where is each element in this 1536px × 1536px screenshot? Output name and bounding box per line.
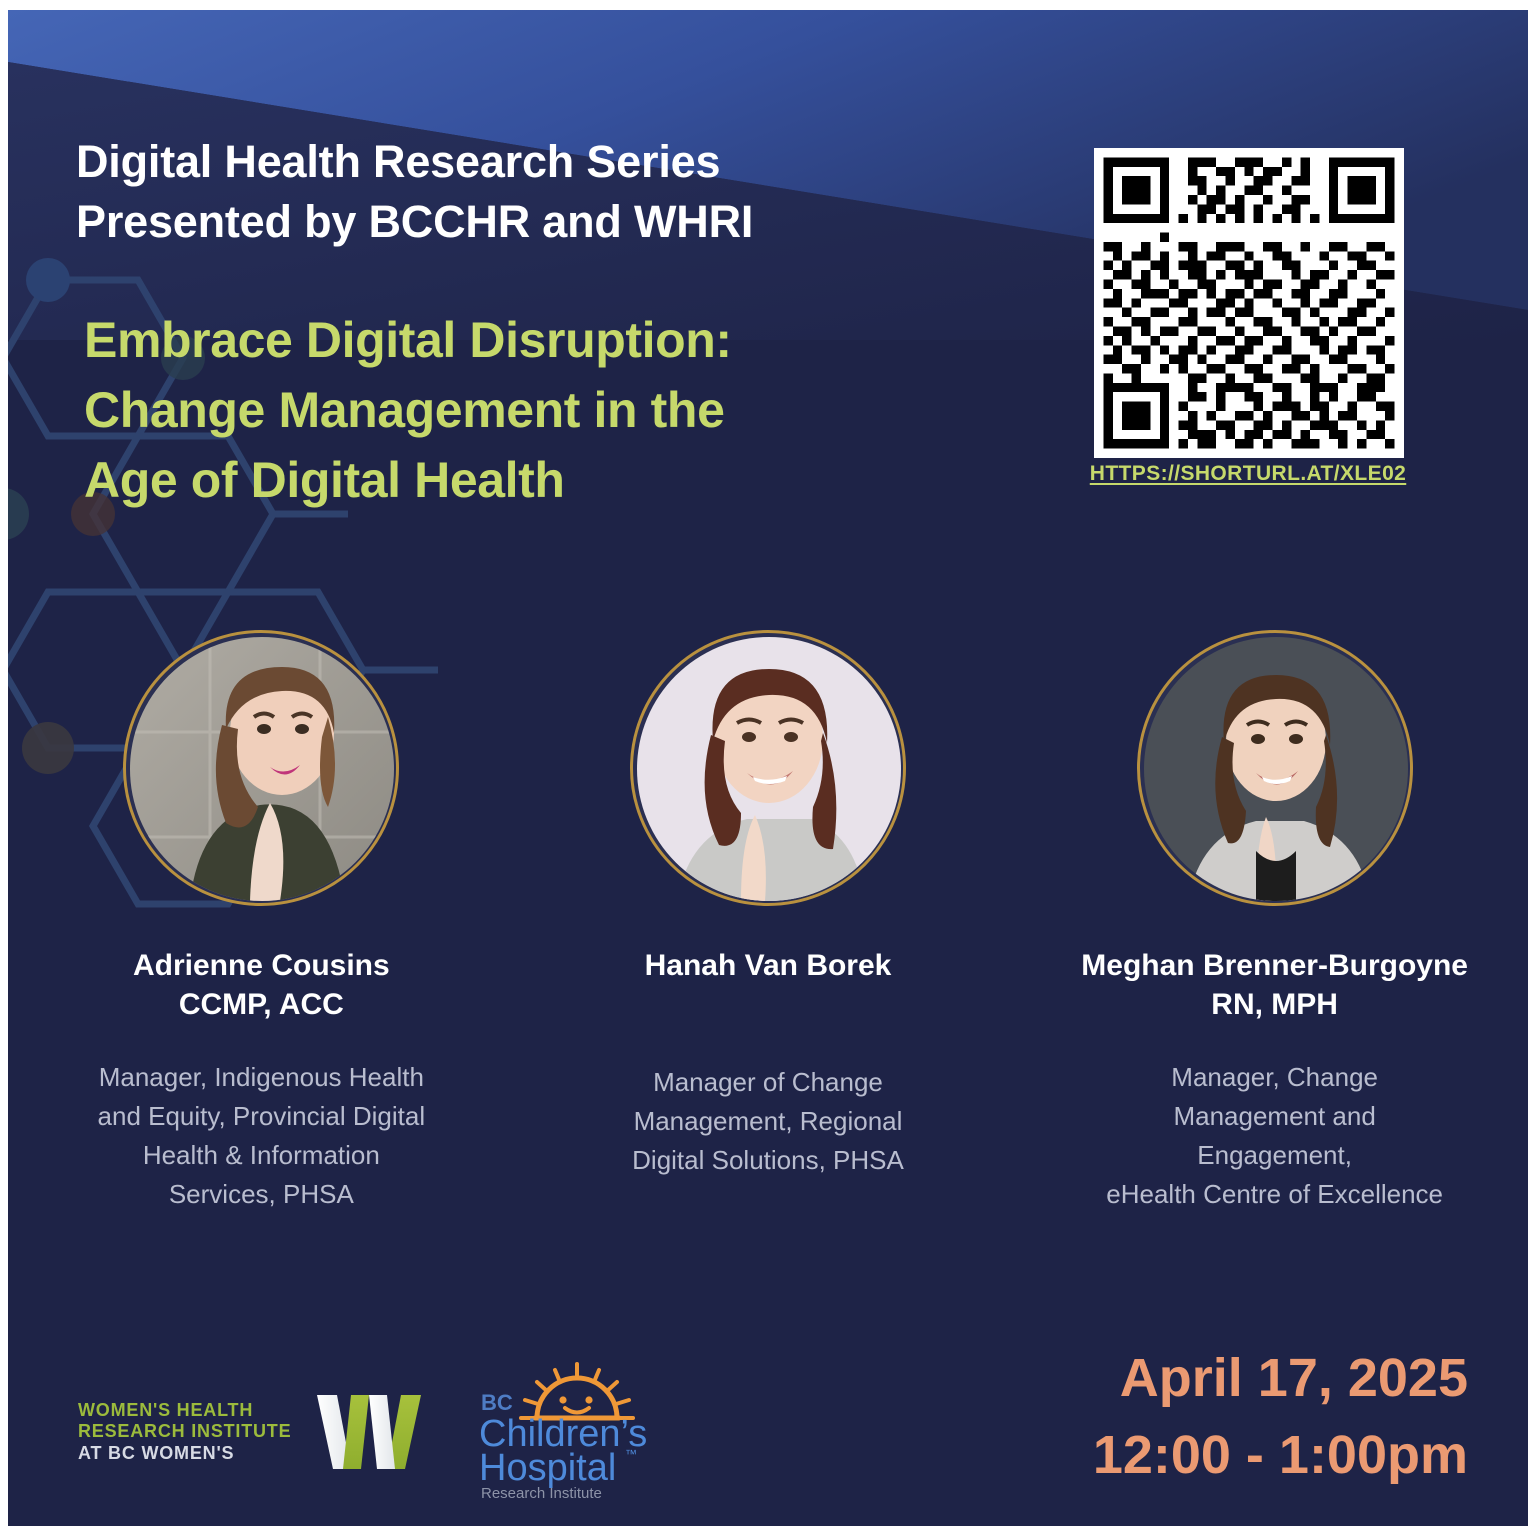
event-time: 12:00 - 1:00pm [1093, 1417, 1468, 1494]
avatar [123, 630, 399, 906]
speaker-credentials: CCMP, ACC [179, 985, 344, 1024]
event-poster: Digital Health Research Series Presented… [8, 10, 1528, 1526]
talk-title-line-1: Embrace Digital Disruption: [84, 305, 1044, 375]
qr-code-icon[interactable] [1094, 148, 1404, 458]
whri-line-1: WOMEN'S HEALTH [78, 1400, 291, 1421]
qr-url-link[interactable]: HTTPS://SHORTURL.AT/XLE02 [1048, 462, 1448, 486]
talk-title-line-2: Change Management in the [84, 375, 1044, 445]
headshot-meghan-brenner-burgoyne [1144, 637, 1408, 901]
series-title-line-1: Digital Health Research Series [76, 132, 1056, 192]
svg-text:BC: BC [481, 1390, 513, 1415]
speaker-role-line: Health & Information [98, 1136, 426, 1175]
avatar [630, 630, 906, 906]
whri-logo-text: WOMEN'S HEALTH RESEARCH INSTITUTE AT BC … [78, 1400, 291, 1464]
whri-logo: WOMEN'S HEALTH RESEARCH INSTITUTE AT BC … [78, 1393, 421, 1471]
speaker-role: Manager, Indigenous Health and Equity, P… [98, 1058, 426, 1214]
speaker-role-line: eHealth Centre of Excellence [1106, 1175, 1443, 1214]
speaker-role-line: Digital Solutions, PHSA [632, 1141, 904, 1180]
speaker-card: Adrienne Cousins CCMP, ACC Manager, Indi… [31, 630, 491, 1214]
speaker-role: Manager, Change Management and Engagemen… [1106, 1058, 1443, 1214]
speaker-role-line: Services, PHSA [98, 1175, 426, 1214]
series-title: Digital Health Research Series Presented… [76, 132, 1056, 253]
sun-smile-icon [521, 1364, 633, 1418]
w-monogram-icon [317, 1393, 421, 1471]
speakers-section: Adrienne Cousins CCMP, ACC Manager, Indi… [8, 630, 1528, 1214]
svg-text:Hospital: Hospital [479, 1447, 616, 1489]
talk-title: Embrace Digital Disruption: Change Manag… [84, 305, 1044, 515]
speaker-credentials: RN, MPH [1211, 985, 1338, 1024]
speaker-name: Meghan Brenner-Burgoyne [1081, 946, 1468, 985]
speaker-role-line: Management, Regional [632, 1102, 904, 1141]
talk-title-line-3: Age of Digital Health [84, 445, 1044, 515]
event-datetime: April 17, 2025 12:00 - 1:00pm [1093, 1340, 1468, 1493]
speaker-role-line: Manager of Change [632, 1063, 904, 1102]
svg-text:™: ™ [625, 1447, 637, 1461]
speaker-name: Adrienne Cousins [133, 946, 390, 985]
event-date: April 17, 2025 [1093, 1340, 1468, 1417]
qr-code-svg [1094, 148, 1404, 458]
speaker-role: Manager of Change Management, Regional D… [632, 1063, 904, 1180]
speaker-card: Meghan Brenner-Burgoyne RN, MPH Manager,… [1045, 630, 1505, 1214]
speaker-role-line: Manager, Change [1106, 1058, 1443, 1097]
headshot-hanah-van-borek [637, 637, 901, 901]
speaker-role-line: Engagement, [1106, 1136, 1443, 1175]
speaker-role-line: Manager, Indigenous Health [98, 1058, 426, 1097]
speaker-role-line: and Equity, Provincial Digital [98, 1097, 426, 1136]
bc-childrens-hospital-logo: BC Children’s Hospital ™ Research Instit… [477, 1362, 677, 1502]
avatar [1137, 630, 1413, 906]
speaker-name: Hanah Van Borek [645, 946, 892, 985]
svg-text:Research Institute: Research Institute [481, 1485, 602, 1502]
speaker-role-line: Management and [1106, 1097, 1443, 1136]
series-title-line-2: Presented by BCCHR and WHRI [76, 192, 1056, 252]
speaker-card: Hanah Van Borek Manager of Change Manage… [538, 630, 998, 1180]
headshot-adrienne-cousins [130, 637, 394, 901]
whri-line-3: AT BC WOMEN'S [78, 1443, 291, 1464]
sponsor-logos: WOMEN'S HEALTH RESEARCH INSTITUTE AT BC … [78, 1362, 677, 1502]
whri-line-2: RESEARCH INSTITUTE [78, 1421, 291, 1442]
